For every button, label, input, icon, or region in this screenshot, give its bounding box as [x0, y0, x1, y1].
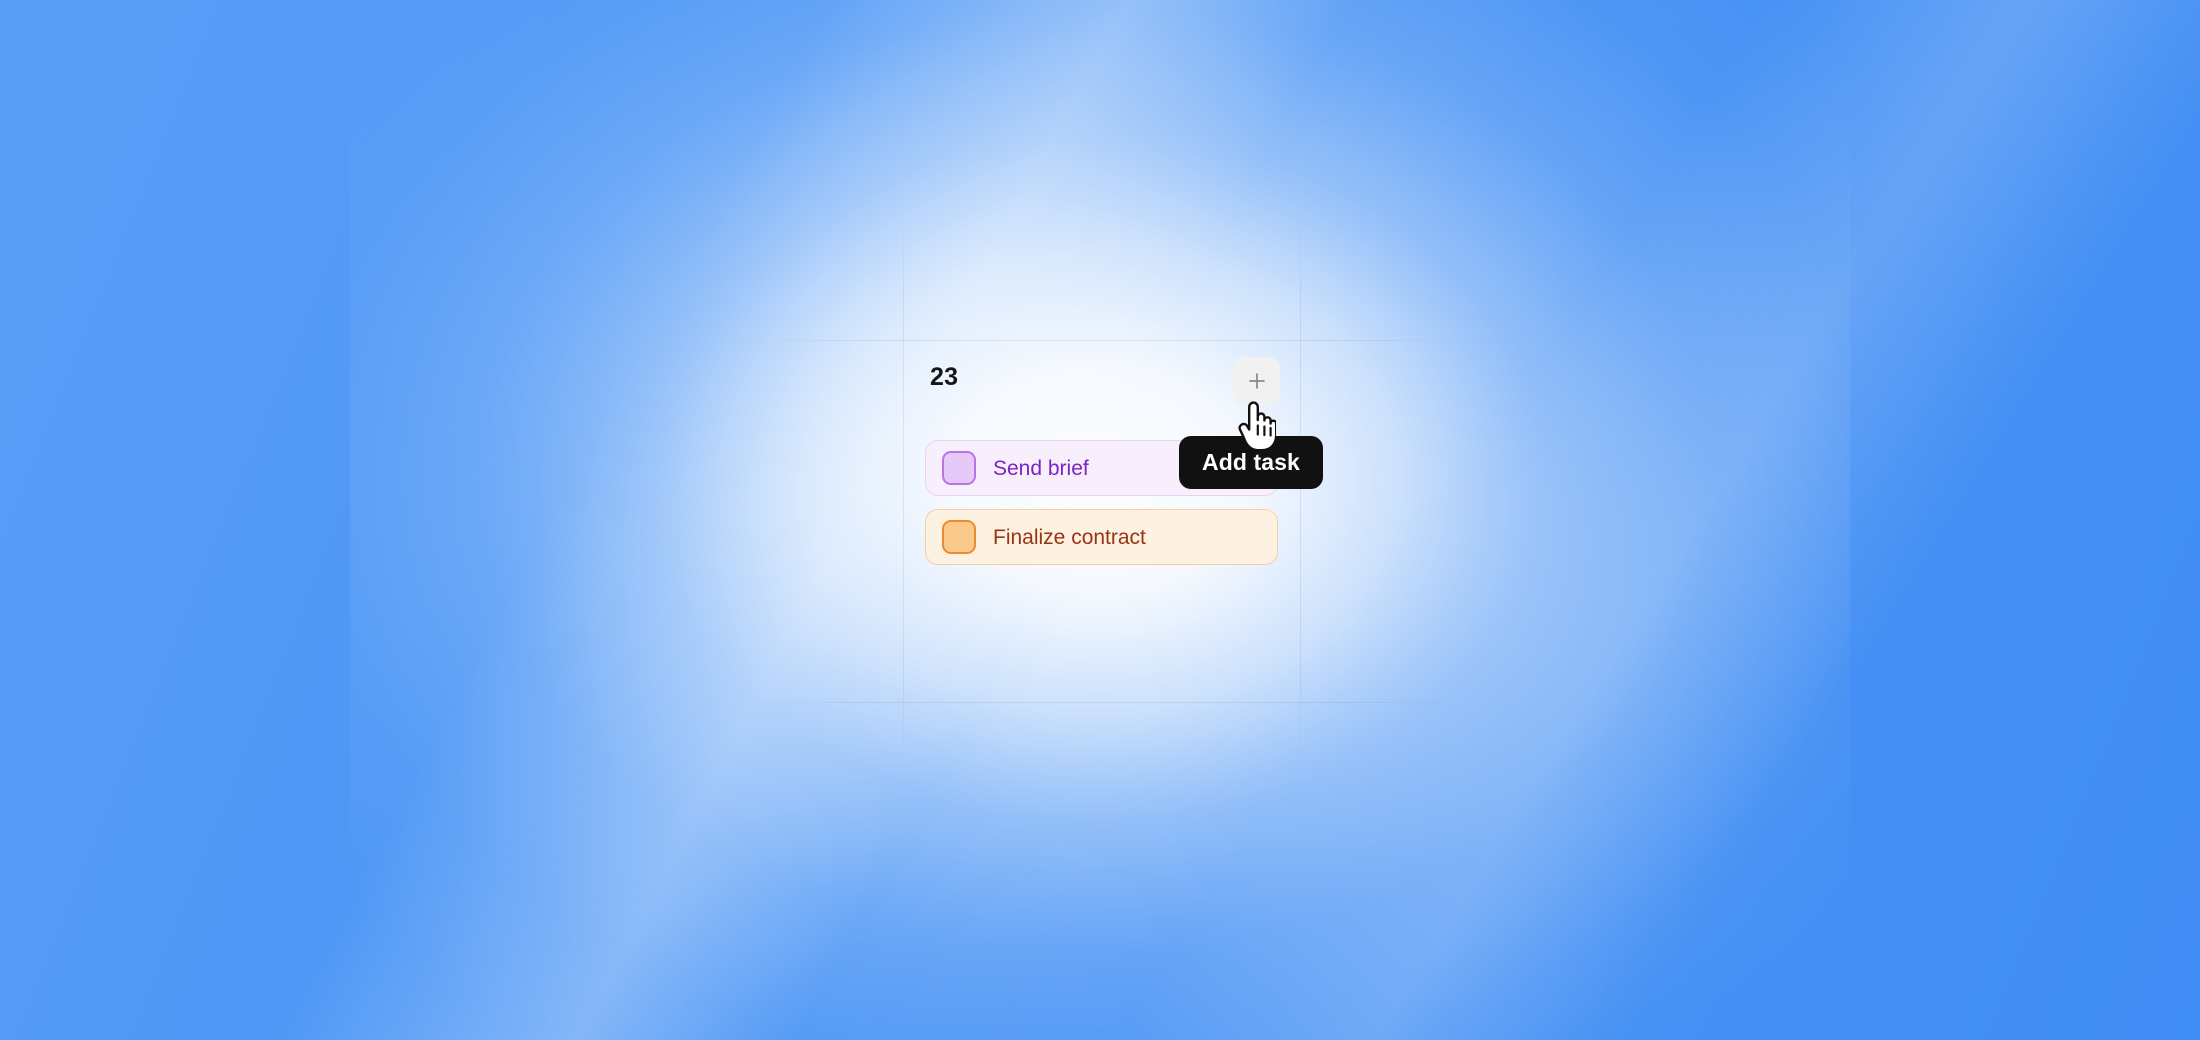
color-swatch-icon	[942, 451, 976, 485]
task-label: Send brief	[993, 458, 1089, 479]
color-swatch-icon	[942, 520, 976, 554]
tooltip-add-task: Add task	[1179, 436, 1323, 489]
task-label: Finalize contract	[993, 527, 1146, 548]
calendar-day-cell[interactable]: 23 Send brief Finalize contract	[903, 341, 1300, 702]
task-pill-finalize-contract[interactable]: Finalize contract	[925, 509, 1278, 565]
add-task-button[interactable]	[1233, 357, 1280, 404]
plus-icon	[1246, 370, 1268, 392]
day-number: 23	[930, 365, 958, 390]
